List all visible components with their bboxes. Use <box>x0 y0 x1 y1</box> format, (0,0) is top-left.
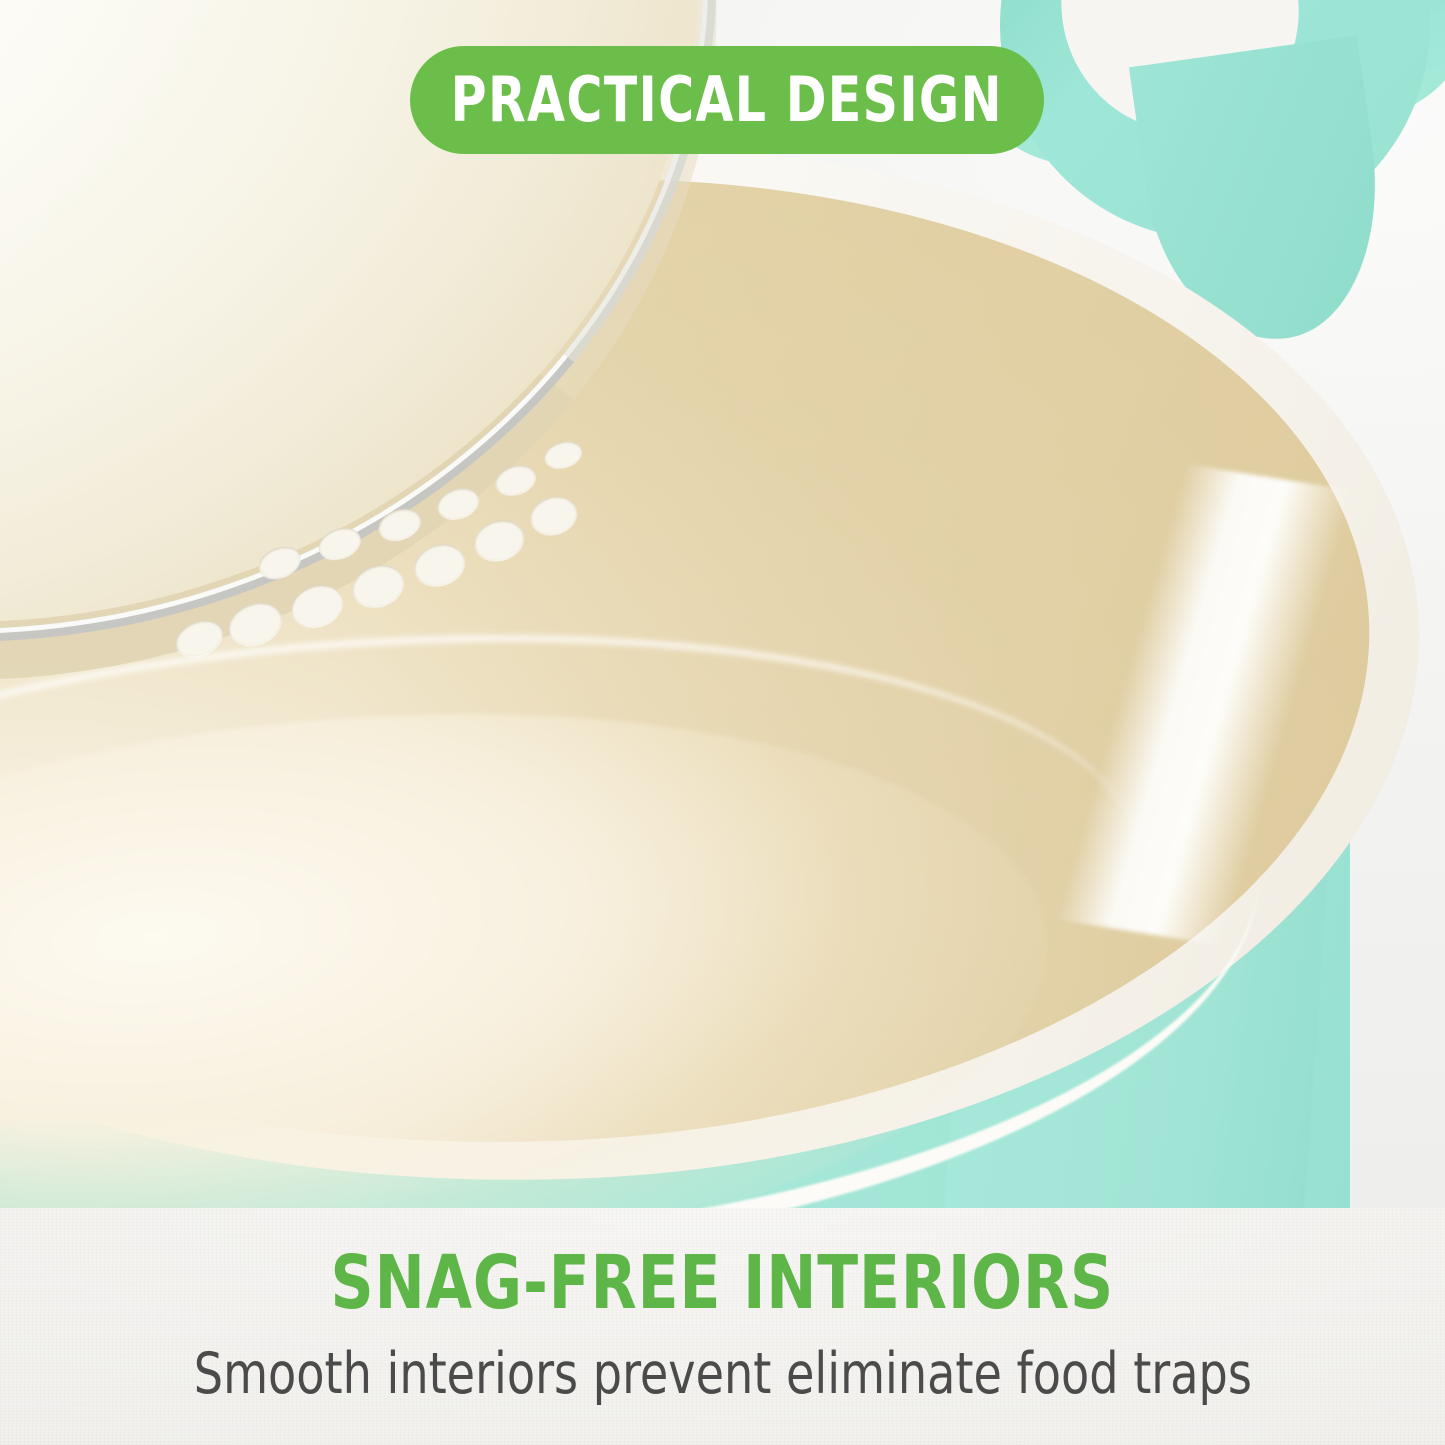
product-photo: PRACTICAL DESIGN <box>0 0 1445 1208</box>
badge-label: PRACTICAL DESIGN <box>451 69 1003 131</box>
product-marketing-card: PRACTICAL DESIGN SNAG-FREE INTERIORS Smo… <box>0 0 1445 1445</box>
caption-block: SNAG-FREE INTERIORS Smooth interiors pre… <box>0 1208 1445 1445</box>
practical-design-badge: PRACTICAL DESIGN <box>410 46 1044 154</box>
caption-headline: SNAG-FREE INTERIORS <box>331 1246 1115 1320</box>
caption-subline: Smooth interiors prevent eliminate food … <box>193 1346 1251 1403</box>
